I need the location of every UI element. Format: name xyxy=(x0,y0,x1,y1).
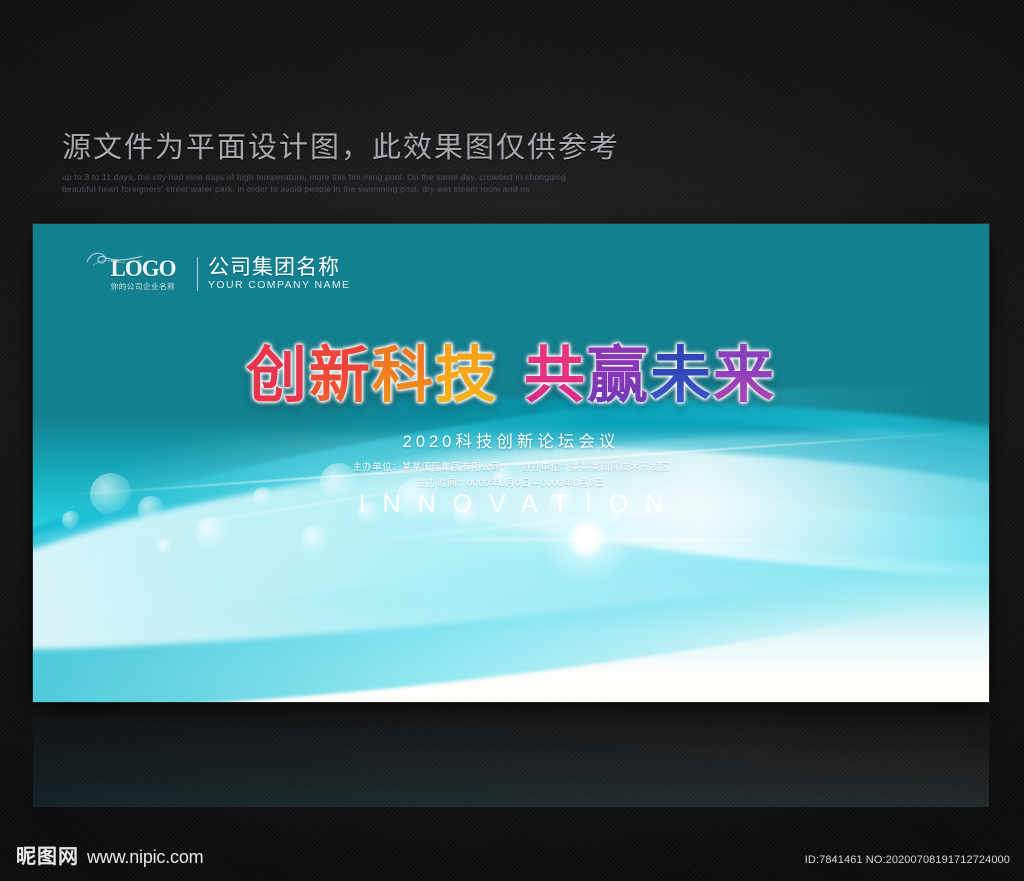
company-name-en: YOUR COMPANY NAME xyxy=(208,279,350,292)
footer-brand: 昵图网 www.nipic.com xyxy=(16,840,203,869)
logo-subtitle: 你的公司企业名称 xyxy=(95,281,191,292)
headline-char: 来 xyxy=(713,340,776,412)
disclaimer-title: 源文件为平面设计图，此效果图仅供参考 xyxy=(62,124,782,166)
logo-lockup: LOGO 你的公司企业名称 公司集团名称 YOUR COMPANY NAME xyxy=(95,256,350,292)
footer-id-text: ID:7841461 NO:20200708191712724000 xyxy=(805,854,1010,866)
organizer-main: 主办单位：某某国际集团有限公司 xyxy=(352,462,501,473)
disclaimer-body: up to 3 to 11 days, the city had nine da… xyxy=(62,171,582,195)
flourish-icon xyxy=(85,248,143,270)
poster-subheadline-block: 2020科技创新论坛会议 主办单位：某某国际集团有限公司 协办单位：某某某国际技… xyxy=(33,428,989,489)
screenshot-stage: 源文件为平面设计图，此效果图仅供参考 up to 3 to 11 days, t… xyxy=(0,0,1024,881)
disclaimer-block: 源文件为平面设计图，此效果图仅供参考 up to 3 to 11 days, t… xyxy=(62,124,782,195)
headline-char: 新 xyxy=(309,340,372,412)
logo-divider xyxy=(197,257,198,291)
company-name-block: 公司集团名称 YOUR COMPANY NAME xyxy=(208,256,350,292)
headline-char: 共 xyxy=(524,340,587,412)
poster-headline: 创新科技共赢未来 xyxy=(33,340,989,412)
poster-artwork: LOGO 你的公司企业名称 公司集团名称 YOUR COMPANY NAME 创… xyxy=(33,224,989,702)
bokeh-circle xyxy=(301,525,331,555)
poster-reflection-inner xyxy=(33,703,989,807)
headline-char: 科 xyxy=(372,340,435,412)
headline-char: 创 xyxy=(246,340,309,412)
event-name: 2020科技创新论坛会议 xyxy=(33,428,989,452)
logo-mark: LOGO 你的公司企业名称 xyxy=(95,257,191,292)
innovation-wordmark: INNOVATION xyxy=(33,490,989,519)
event-time: 主办时间：0000年0月0日—0000年0月0日 xyxy=(33,475,989,489)
organizer-co: 协办单位：某某某国际技术开发区 xyxy=(521,462,670,473)
brand-url: www.nipic.com xyxy=(87,847,203,868)
organizers-line: 主办单位：某某国际集团有限公司 协办单位：某某某国际技术开发区 xyxy=(33,459,989,473)
headline-char: 赢 xyxy=(587,340,650,412)
poster-reflection xyxy=(33,703,989,807)
headline-char: 未 xyxy=(650,340,713,412)
headline-char: 技 xyxy=(435,340,498,412)
brand-name-cn: 昵图网 xyxy=(16,840,79,869)
company-name-cn: 公司集团名称 xyxy=(208,256,350,279)
